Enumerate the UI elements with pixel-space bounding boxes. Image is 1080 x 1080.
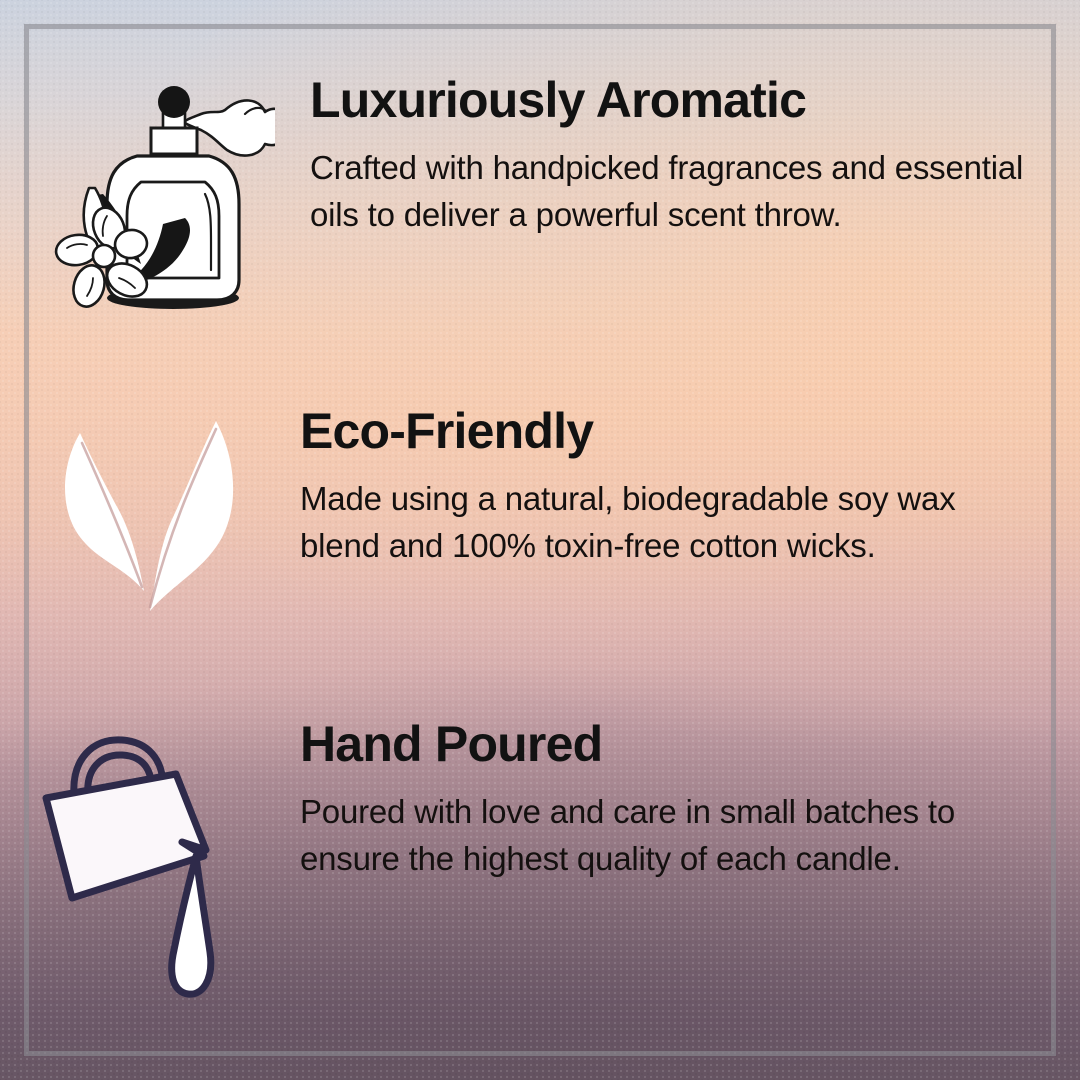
pouring-pot-icon [0,718,300,1008]
feature-item-hand-poured: Hand Poured Poured with love and care in… [0,718,1060,1008]
feature-title: Hand Poured [300,718,1040,771]
feature-list-graphic: Luxuriously Aromatic Crafted with handpi… [0,0,1080,1080]
feature-list: Luxuriously Aromatic Crafted with handpi… [0,0,1080,1080]
feature-text-hand-poured: Hand Poured Poured with love and care in… [300,718,1060,883]
feature-body: Poured with love and care in small batch… [300,789,1040,883]
perfume-bottle-icon [0,74,310,324]
leaves-icon [0,405,300,615]
feature-item-aromatic: Luxuriously Aromatic Crafted with handpi… [0,74,1060,324]
feature-text-aromatic: Luxuriously Aromatic Crafted with handpi… [310,74,1060,239]
feature-title: Luxuriously Aromatic [310,74,1040,127]
feature-body: Crafted with handpicked fragrances and e… [310,145,1040,239]
feature-title: Eco-Friendly [300,405,1040,458]
feature-body: Made using a natural, biodegradable soy … [300,476,1040,570]
feature-text-eco-friendly: Eco-Friendly Made using a natural, biode… [300,405,1060,570]
feature-item-eco-friendly: Eco-Friendly Made using a natural, biode… [0,405,1060,615]
